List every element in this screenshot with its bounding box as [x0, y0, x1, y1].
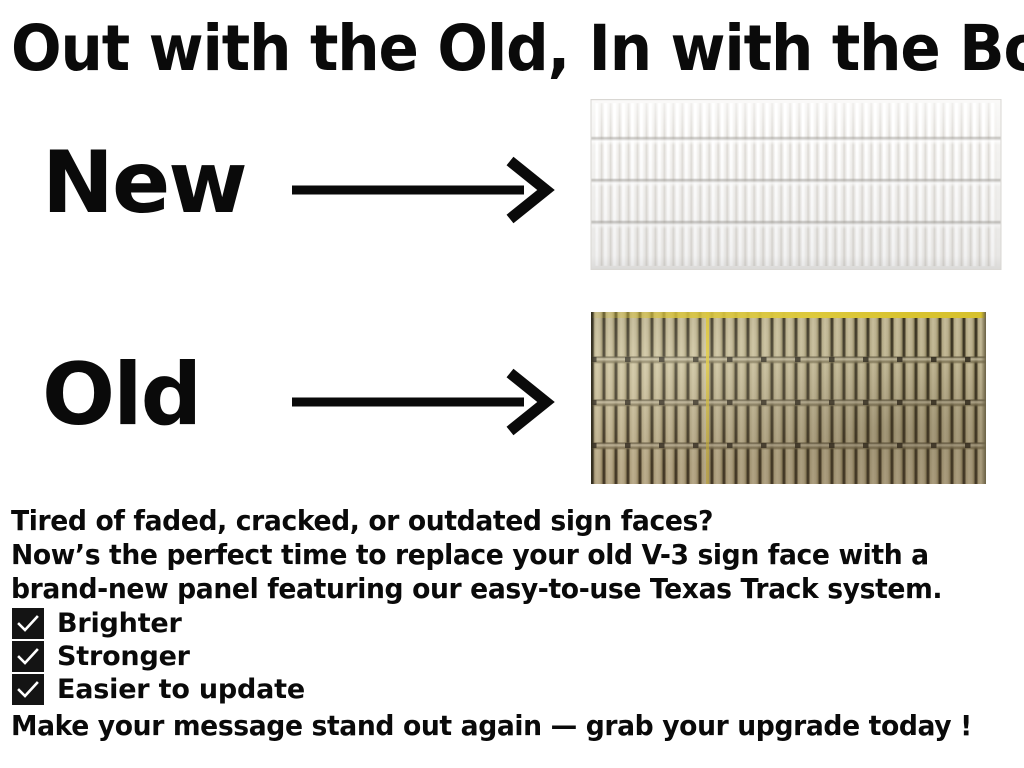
- promo-poster: Out with the Old, In with the Bold! New …: [0, 0, 1024, 768]
- panel-right-edge: [981, 312, 986, 484]
- benefit-label: Brighter: [57, 608, 182, 639]
- old-sign-panel-image: [591, 312, 986, 484]
- check-icon: [12, 674, 44, 705]
- benefit-item: Brighter: [12, 608, 182, 639]
- benefit-label: Stronger: [57, 641, 190, 672]
- row-label-new: New: [42, 140, 246, 226]
- arrow-right-icon: [292, 367, 557, 442]
- body-line-2: Now’s the perfect time to replace your o…: [11, 538, 929, 572]
- panel-weathering: [591, 312, 986, 484]
- benefit-item: Stronger: [12, 641, 190, 672]
- arrow-right-icon: [292, 155, 557, 230]
- check-icon: [12, 608, 44, 639]
- benefit-item: Easier to update: [12, 674, 305, 705]
- check-icon: [12, 641, 44, 672]
- call-to-action-text: Make your message stand out again — grab…: [11, 709, 972, 743]
- benefit-label: Easier to update: [57, 674, 305, 705]
- body-line-1: Tired of faded, cracked, or outdated sig…: [11, 504, 713, 538]
- page-title: Out with the Old, In with the Bold!: [11, 15, 961, 83]
- row-label-old: Old: [42, 352, 200, 438]
- body-line-3: brand-new panel featuring our easy-to-us…: [11, 572, 942, 606]
- panel-left-edge: [591, 312, 595, 484]
- new-sign-panel-image: [591, 99, 1002, 270]
- panel-sheen: [591, 100, 1000, 269]
